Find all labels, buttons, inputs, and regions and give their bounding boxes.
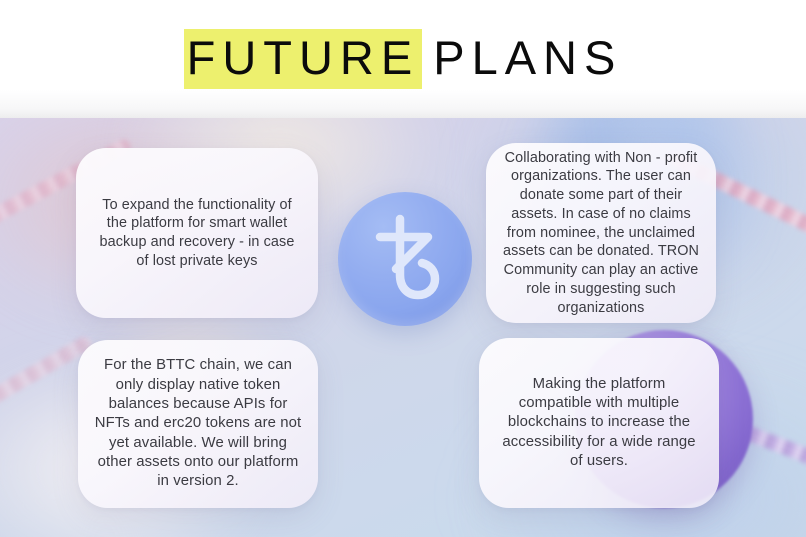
plan-card-text: For the BTTC chain, we can only display … — [92, 356, 304, 492]
plan-card-bottom-right[interactable]: Making the platform compatible with mult… — [479, 338, 719, 508]
plan-card-text: Collaborating with Non - profit organiza… — [497, 149, 705, 317]
plan-card-bottom-left[interactable]: For the BTTC chain, we can only display … — [78, 340, 318, 508]
plan-card-top-left[interactable]: To expand the functionality of the platf… — [76, 148, 318, 318]
title-highlighted-word: FUTURE — [184, 29, 423, 89]
plan-card-text: Making the platform compatible with mult… — [495, 375, 703, 472]
slide-body: To expand the functionality of the platf… — [0, 118, 806, 537]
title-plain-word: PLANS — [422, 31, 622, 84]
plan-card-text: To expand the functionality of the platf… — [92, 196, 302, 271]
slide-header: FUTUREPLANS — [0, 0, 806, 118]
page-title: FUTUREPLANS — [0, 34, 806, 81]
plan-card-top-right[interactable]: Collaborating with Non - profit organiza… — [486, 143, 716, 323]
tezos-coin-icon — [338, 192, 472, 326]
presentation-slide: FUTUREPLANS To expand the func — [0, 0, 806, 537]
